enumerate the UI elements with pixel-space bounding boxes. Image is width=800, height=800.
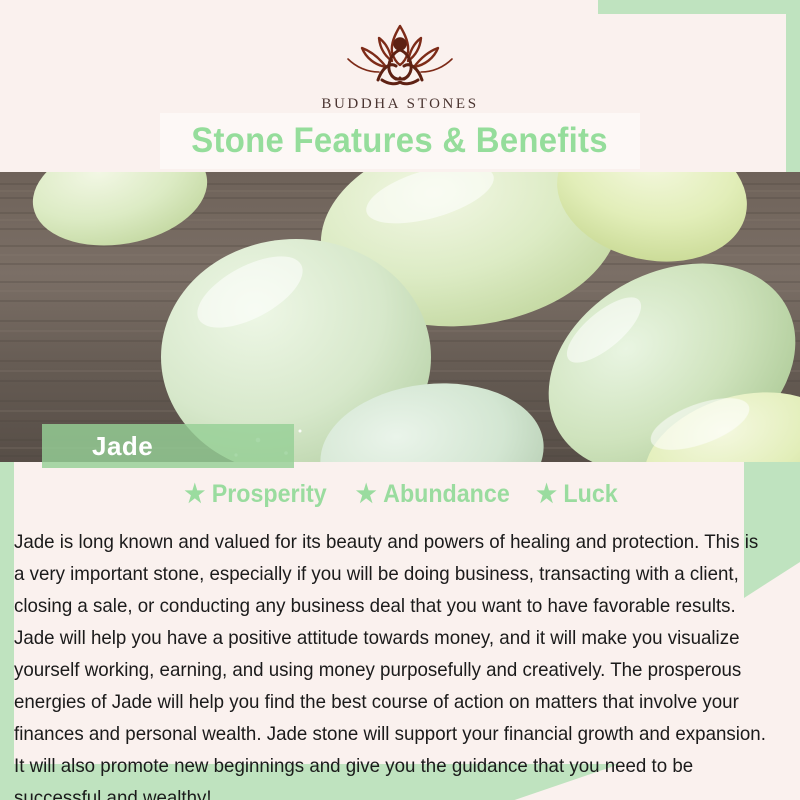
stone-name-text: Jade — [92, 431, 153, 462]
keyword-label: Abundance — [383, 480, 510, 509]
keyword-luck: ★ Luck — [536, 480, 618, 509]
jade-stones-illustration — [0, 172, 800, 462]
keyword-abundance: ★ Abundance — [356, 480, 510, 509]
keyword-label: Luck — [564, 480, 618, 509]
star-icon: ★ — [536, 482, 557, 507]
decor-band-top-right — [598, 0, 800, 14]
keyword-list: ★ Prosperity ★ Abundance ★ Luck — [0, 478, 800, 510]
stone-description: Jade is long known and valued for its be… — [14, 527, 767, 800]
page-title: Stone Features & Benefits — [192, 121, 609, 161]
brand-name: BUDDHA STONES — [321, 96, 478, 113]
lotus-meditation-icon — [334, 22, 466, 90]
stone-name-label: Jade — [42, 424, 294, 468]
infographic-page: BUDDHA STONES Stone Features & Benefits — [0, 0, 800, 800]
star-icon: ★ — [356, 482, 377, 507]
stone-photo — [0, 172, 800, 462]
star-icon: ★ — [184, 482, 205, 507]
brand-logo: BUDDHA STONES — [0, 22, 800, 113]
section-title-banner: Stone Features & Benefits — [160, 113, 640, 169]
keyword-label: Prosperity — [212, 480, 327, 509]
keyword-prosperity: ★ Prosperity — [184, 480, 326, 509]
